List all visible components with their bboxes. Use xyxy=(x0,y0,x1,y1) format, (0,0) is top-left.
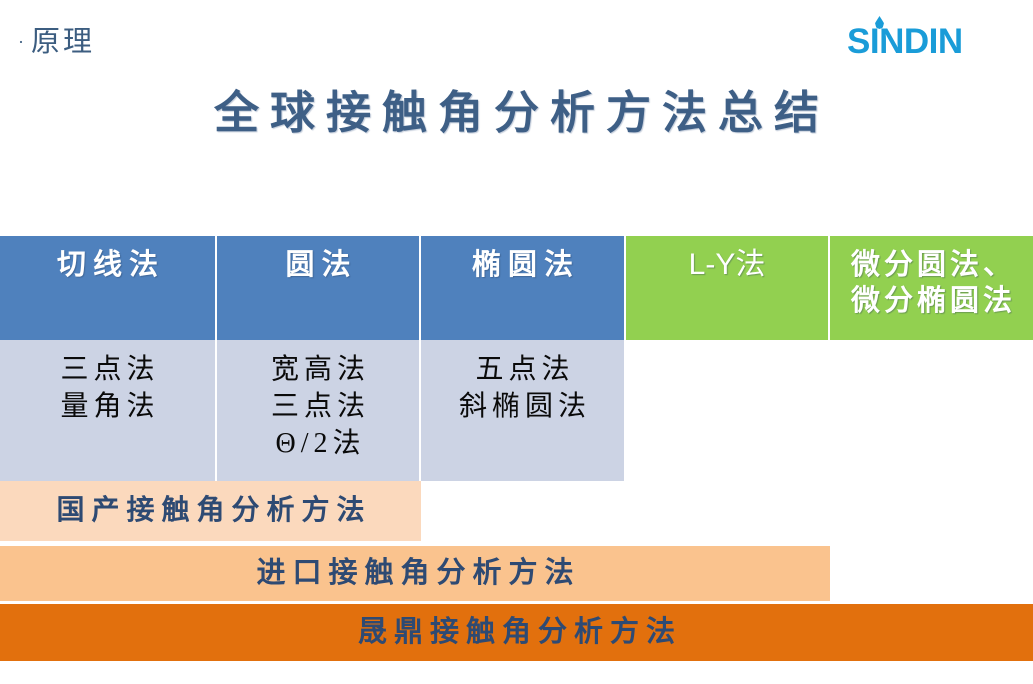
band-domestic-methods: 国产接触角分析方法 xyxy=(0,481,421,541)
table-header-cell-ellipse: 椭圆法 xyxy=(421,236,626,340)
slide-header: ·原理 SINDIN xyxy=(0,0,1033,72)
table-cell-tangent-methods: 三点法 量角法 xyxy=(0,340,217,481)
band-sindin-methods: 晟鼎接触角分析方法 xyxy=(0,604,1033,661)
table-header-row: 切线法 圆法 椭圆法 L-Y法 微分圆法、 微分椭圆法 xyxy=(0,236,1033,340)
table-header-cell-tangent: 切线法 xyxy=(0,236,217,340)
brand-wordmark: SINDIN xyxy=(847,23,963,61)
list-item: 五点法 xyxy=(421,351,624,388)
table-cell-differential-methods xyxy=(830,340,1033,481)
table-cell-circle-methods: 宽高法 三点法 Θ/2法 xyxy=(217,340,421,481)
list-item: 斜椭圆法 xyxy=(421,388,624,425)
section-kicker-label: 原理 xyxy=(31,26,95,58)
bullet-icon: · xyxy=(18,32,27,53)
list-item: Θ/2法 xyxy=(217,425,419,462)
table-header-cell-differential-line2: 微分椭圆法 xyxy=(830,283,1033,319)
table-cell-ly-methods xyxy=(626,340,830,481)
table-header-cell-circle: 圆法 xyxy=(217,236,421,340)
band-imported-methods: 进口接触角分析方法 xyxy=(0,546,830,601)
table-header-cell-differential-line1: 微分圆法、 xyxy=(830,247,1033,283)
list-item: 宽高法 xyxy=(217,351,419,388)
table-header-cell-differential: 微分圆法、 微分椭圆法 xyxy=(830,236,1033,340)
list-item: 三点法 xyxy=(217,388,419,425)
section-kicker: ·原理 xyxy=(18,18,95,60)
list-item: 量角法 xyxy=(0,388,215,425)
list-item: 三点法 xyxy=(0,351,215,388)
table-cell-ellipse-methods: 五点法 斜椭圆法 xyxy=(421,340,626,481)
page-title: 全球接触角分析方法总结 xyxy=(0,76,1033,141)
methods-table: 切线法 圆法 椭圆法 L-Y法 微分圆法、 微分椭圆法 三点法 量角法 宽高法 … xyxy=(0,236,1033,481)
brand-logo: SINDIN xyxy=(847,21,997,65)
table-body-row: 三点法 量角法 宽高法 三点法 Θ/2法 五点法 斜椭圆法 xyxy=(0,340,1033,481)
table-header-cell-ly: L-Y法 xyxy=(626,236,830,340)
